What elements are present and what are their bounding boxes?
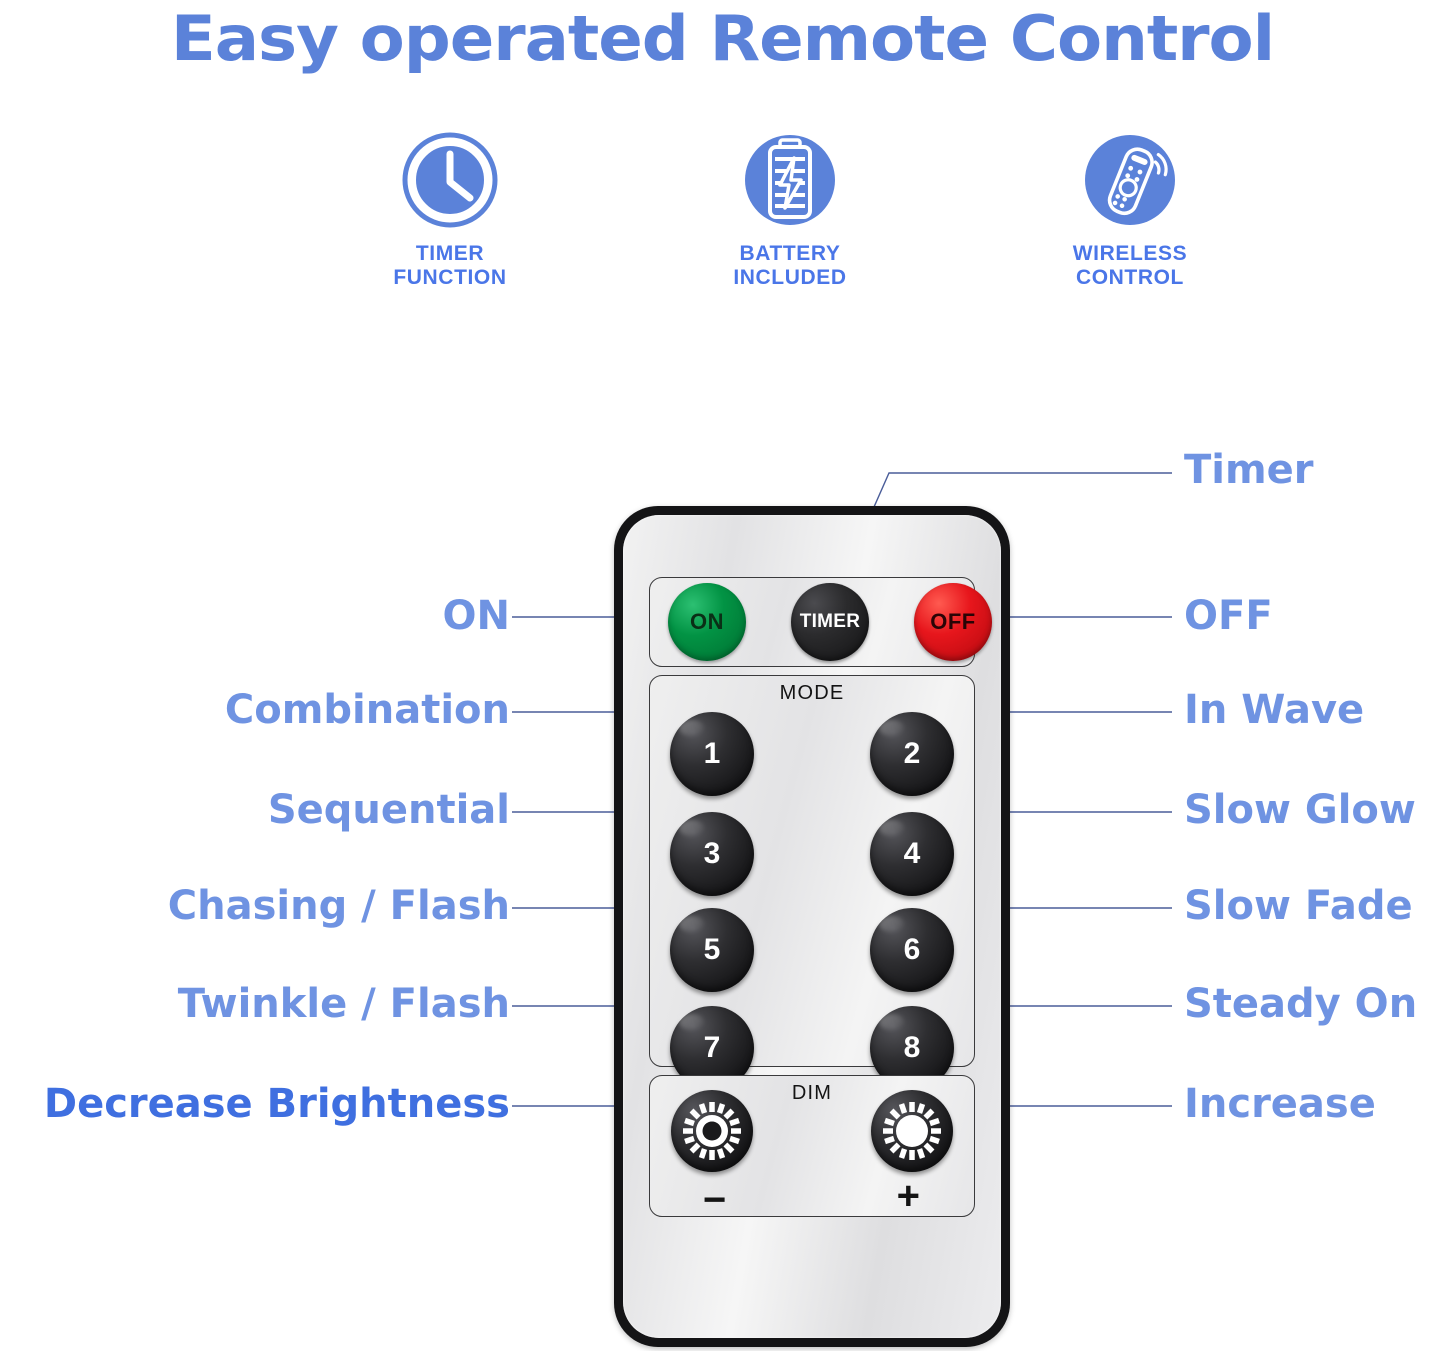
callout-steady-on: Steady On bbox=[1184, 984, 1417, 1024]
callout-off: OFF bbox=[1184, 596, 1273, 636]
callout-sequential: Sequential bbox=[12, 790, 510, 830]
feature-timer-label-line1: TIMER bbox=[416, 242, 484, 265]
mode-button-5[interactable]: 5 bbox=[670, 908, 754, 992]
callout-slow-fade: Slow Fade bbox=[1184, 886, 1413, 926]
infographic-canvas: Easy operated Remote Control TIMER FUNCT… bbox=[0, 0, 1445, 1351]
remote-control-device: ON TIMER OFF MODE 1 2 3 4 5 6 7 8 DIM bbox=[614, 506, 1010, 1347]
callout-increase: Increase bbox=[1184, 1084, 1376, 1124]
sun-hollow-icon bbox=[671, 1090, 753, 1172]
remote-icon bbox=[1082, 132, 1178, 228]
dim-button-panel: DIM bbox=[649, 1075, 975, 1217]
feature-battery-included: BATTERY INCLUDED bbox=[640, 132, 940, 290]
mode-button-2[interactable]: 2 bbox=[870, 712, 954, 796]
callout-on: ON bbox=[12, 596, 510, 636]
feature-badge-row: TIMER FUNCTION BATTERY bbox=[300, 132, 1280, 312]
dim-plus-symbol: + bbox=[897, 1176, 920, 1216]
power-button-panel: ON TIMER OFF bbox=[649, 577, 975, 667]
feature-wireless-control: WIRELESS CONTROL bbox=[980, 132, 1280, 290]
feature-wireless-label: WIRELESS CONTROL bbox=[1073, 242, 1187, 290]
clock-icon bbox=[402, 132, 498, 228]
feature-timer-label: TIMER FUNCTION bbox=[393, 242, 506, 290]
feature-wireless-label-line2: CONTROL bbox=[1076, 266, 1184, 289]
callout-decrease-brightness: Decrease Brightness bbox=[0, 1084, 510, 1124]
dim-minus-symbol: − bbox=[703, 1180, 726, 1220]
timer-button[interactable]: TIMER bbox=[791, 583, 869, 661]
feature-battery-label: BATTERY INCLUDED bbox=[733, 242, 846, 290]
callout-combination: Combination bbox=[12, 690, 510, 730]
on-button[interactable]: ON bbox=[668, 583, 746, 661]
callout-chasing-flash: Chasing / Flash bbox=[12, 886, 510, 926]
feature-wireless-label-line1: WIRELESS bbox=[1073, 242, 1187, 265]
sun-solid-icon bbox=[871, 1090, 953, 1172]
page-title: Easy operated Remote Control bbox=[0, 2, 1445, 75]
callout-twinkle-flash: Twinkle / Flash bbox=[12, 984, 510, 1024]
mode-button-1[interactable]: 1 bbox=[670, 712, 754, 796]
mode-button-6[interactable]: 6 bbox=[870, 908, 954, 992]
callout-in-wave: In Wave bbox=[1184, 690, 1364, 730]
dim-up-button[interactable] bbox=[871, 1090, 953, 1172]
callout-timer: Timer bbox=[1184, 450, 1314, 490]
callout-slow-glow: Slow Glow bbox=[1184, 790, 1416, 830]
feature-timer-label-line2: FUNCTION bbox=[393, 266, 506, 289]
feature-battery-label-line1: BATTERY bbox=[739, 242, 840, 265]
feature-timer-function: TIMER FUNCTION bbox=[300, 132, 600, 290]
mode-button-4[interactable]: 4 bbox=[870, 812, 954, 896]
mode-section-label: MODE bbox=[650, 682, 974, 705]
mode-button-panel: MODE 1 2 3 4 5 6 7 8 bbox=[649, 675, 975, 1067]
remote-faceplate: ON TIMER OFF MODE 1 2 3 4 5 6 7 8 DIM bbox=[623, 515, 1001, 1338]
feature-battery-label-line2: INCLUDED bbox=[733, 266, 846, 289]
dim-down-button[interactable] bbox=[671, 1090, 753, 1172]
mode-button-3[interactable]: 3 bbox=[670, 812, 754, 896]
off-button[interactable]: OFF bbox=[914, 583, 992, 661]
battery-icon bbox=[742, 132, 838, 228]
